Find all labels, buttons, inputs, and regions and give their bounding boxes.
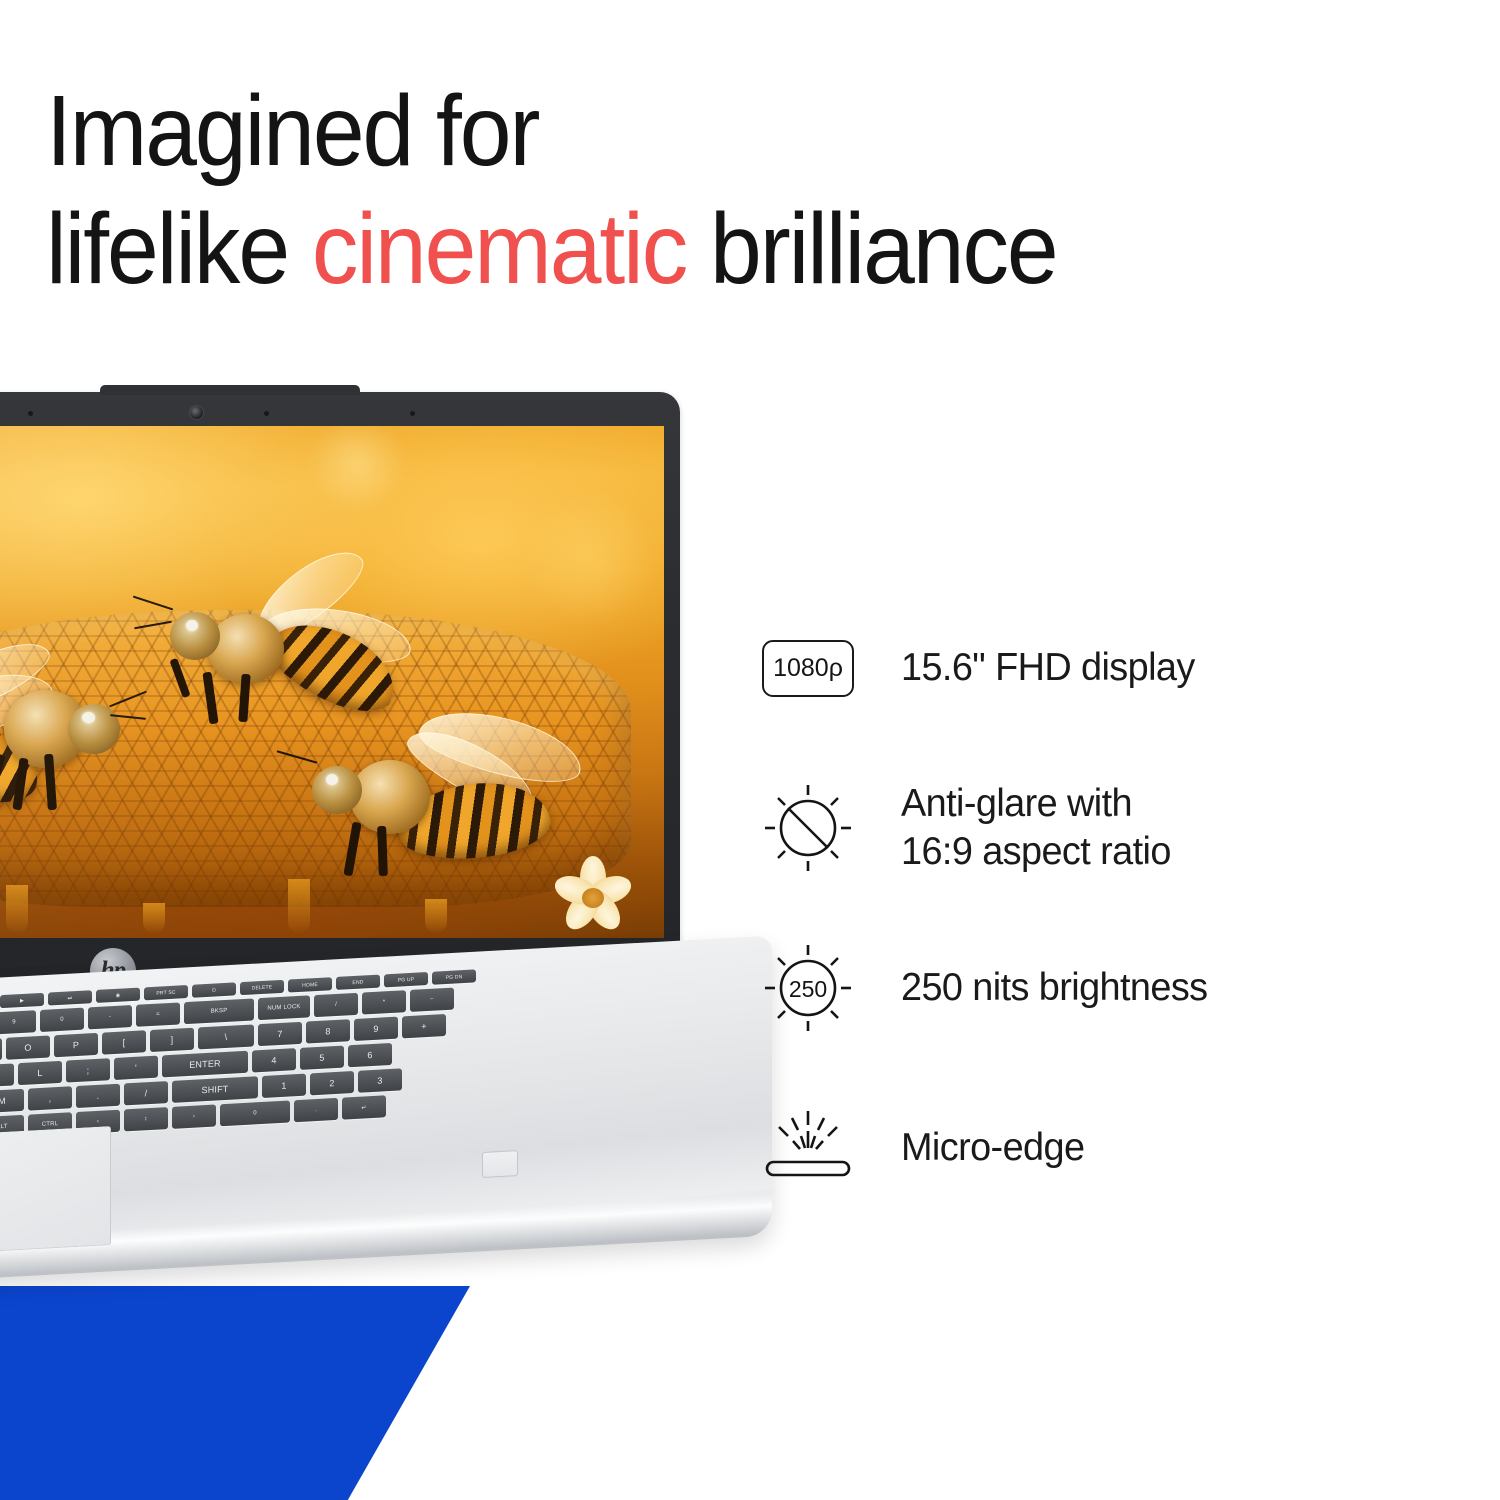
keyboard-key[interactable]: ⏭ [48,990,92,1005]
fingerprint-reader-icon[interactable] [482,1150,518,1178]
keyboard-key[interactable]: [ [102,1030,146,1054]
keyboard-key[interactable]: K [0,1063,14,1087]
headline: Imagined for lifelike cinematic brillian… [46,72,1246,308]
feature-label-micro-edge: Micro-edge [901,1124,1084,1172]
microphone-hole [264,411,269,416]
keyboard-key[interactable]: SHIFT [172,1076,258,1103]
keyboard-key[interactable]: ▶ [0,993,44,1008]
keyboard-key[interactable]: 1 [262,1074,306,1098]
keyboard-key[interactable]: 2 [310,1071,354,1095]
flower-center [582,888,604,908]
feature-item-micro-edge: Micro-edge [752,1068,1312,1228]
keyboard-key[interactable]: - [88,1005,132,1029]
honey-drip [6,885,28,933]
bee-eye [186,620,198,631]
headline-line-2-post: brilliance [686,193,1056,305]
headline-line-2: lifelike cinematic brilliance [46,190,1162,308]
headline-line-2-pre: lifelike [46,193,312,305]
keyboard-key[interactable]: . [76,1084,120,1108]
keyboard-key[interactable]: + [402,1014,446,1038]
keyboard-key[interactable]: L [18,1061,62,1085]
resolution-badge-label: 1080ρ [762,640,854,697]
brand-blue-shape [0,1286,470,1500]
keyboard-key[interactable]: 0 [40,1008,84,1032]
keyboard-key[interactable]: * [362,990,406,1014]
micro-edge-icon [752,1108,864,1188]
flower [540,850,648,938]
keyboard-key[interactable]: 6 [348,1043,392,1067]
laptop-lid: hp [0,392,680,992]
keyboard-key[interactable]: 3 [358,1068,402,1092]
keyboard-key[interactable]: BKSP [184,998,254,1024]
keyboard-key[interactable]: 5 [300,1046,344,1070]
webcam-icon [189,405,204,420]
bee [0,654,146,804]
bee-leg [377,826,388,876]
headline-accent-word: cinematic [312,193,686,305]
keyboard-key[interactable]: PG UP [384,972,428,987]
bee-leg [202,672,218,725]
keyboard-key[interactable]: P [54,1033,98,1057]
keyboard-key[interactable]: / [124,1081,168,1105]
honey-drip [425,899,447,933]
keyboard-key[interactable]: PG DN [432,969,476,984]
keyboard-key[interactable]: › [172,1104,216,1128]
honey-drip [288,879,310,933]
keyboard-key[interactable]: O [6,1035,50,1059]
keyboard-key[interactable]: I [0,1038,2,1062]
bee-leg [169,658,190,698]
bee-head [312,766,362,814]
keyboard-key[interactable]: DELETE [240,980,284,995]
feature-label-anti-glare: Anti-glare with 16:9 aspect ratio [901,780,1171,876]
keyboard-key[interactable]: 4 [252,1048,296,1072]
keyboard-key[interactable]: ' [114,1056,158,1080]
keyboard-key[interactable]: ] [150,1028,194,1052]
bee-antenna [134,621,172,630]
bee-eye [326,774,338,785]
headline-line-1: Imagined for [46,72,1162,190]
bee-antenna [133,596,174,611]
microphone-hole [410,411,415,416]
keyboard-key[interactable]: M [0,1089,24,1113]
keyboard-key[interactable]: , [28,1086,72,1110]
keyboard-key[interactable]: 9 [354,1017,398,1041]
feature-item-anti-glare: Anti-glare with 16:9 aspect ratio [752,748,1312,908]
brightness-sun-icon: 250 [752,942,864,1034]
keyboard-key[interactable]: ENTER [162,1051,248,1078]
keyboard-key[interactable]: = [136,1002,180,1026]
keyboard-key[interactable]: . [294,1098,338,1122]
bee-head [170,612,220,660]
bee-leg [238,674,250,723]
bee-thorax [350,760,430,834]
feature-label-fhd-display: 15.6" FHD display [901,644,1195,692]
keyboard-key[interactable]: ⏻ [192,982,236,997]
trackpad[interactable] [0,1126,111,1263]
keyboard-key[interactable]: − [410,988,454,1012]
keyboard-key[interactable]: 9 [0,1010,36,1034]
bee [136,576,396,726]
keyboard-key[interactable]: 0 [220,1100,290,1126]
anti-glare-sun-icon [752,782,864,874]
bee-leg [343,822,361,877]
feature-label-brightness: 250 nits brightness [901,964,1207,1012]
keyboard-key[interactable]: PRT SC [144,985,188,1000]
brightness-value-text: 250 [789,976,827,1002]
laptop-screen [0,426,664,938]
microphone-hole [28,411,33,416]
keyboard-key[interactable]: ↵ [342,1095,386,1119]
keyboard-key[interactable]: ↕ [124,1107,168,1131]
laptop-product-image: hp ♪-♪+⌨■▶⏭◉PRT SC⏻DELETEHOMEENDPG UPPG … [0,392,780,1300]
keyboard-key[interactable]: NUM LOCK [258,995,310,1020]
bee-eye [82,712,95,723]
lid-lip [100,385,360,395]
keyboard-key[interactable]: END [336,975,380,990]
resolution-1080p-icon: 1080ρ [752,640,864,697]
keyboard-key[interactable]: ◉ [96,988,140,1003]
feature-item-brightness: 250 250 nits brightness [752,908,1312,1068]
bee-head [68,704,120,754]
keyboard-key[interactable]: ; [66,1058,110,1082]
keyboard-key[interactable]: / [314,993,358,1017]
honey-drip [143,903,165,933]
feature-item-fhd-display: 1080ρ 15.6" FHD display [752,588,1312,748]
feature-label-anti-glare-line1: Anti-glare with [901,780,1171,828]
keyboard-key[interactable]: 7 [258,1022,302,1046]
keyboard-key[interactable]: HOME [288,977,332,992]
feature-label-anti-glare-line2: 16:9 aspect ratio [901,828,1171,876]
keyboard-key[interactable]: \ [198,1024,254,1049]
feature-list: 1080ρ 15.6" FHD display A [752,588,1312,1228]
keyboard-key[interactable]: 8 [306,1019,350,1043]
